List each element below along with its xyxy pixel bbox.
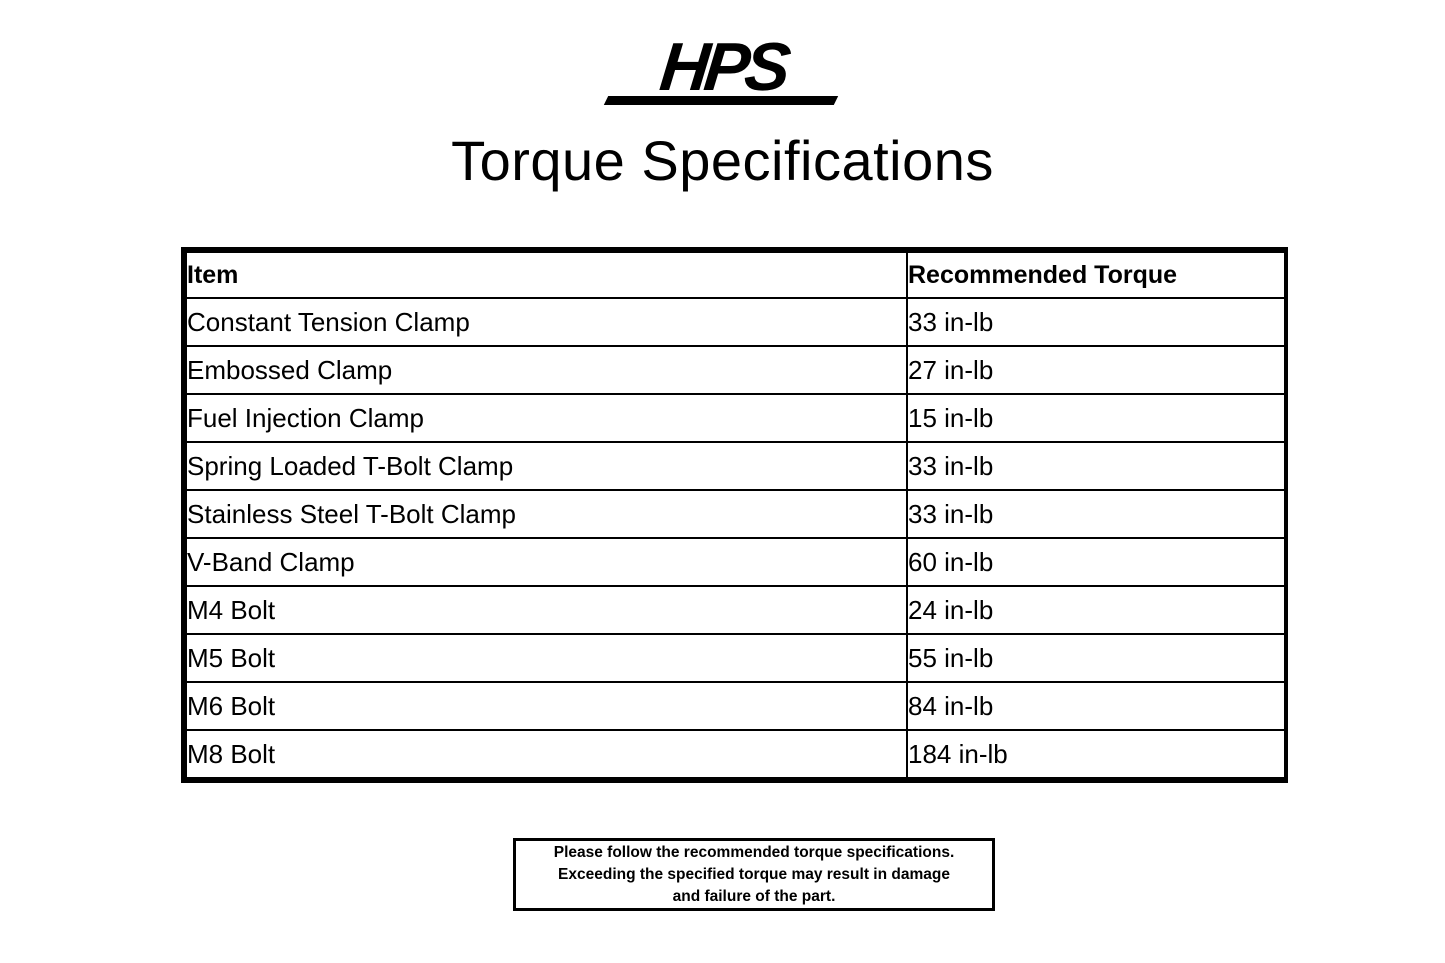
- hps-logo: HPS: [604, 35, 842, 107]
- cell-item: Embossed Clamp: [186, 346, 907, 394]
- warning-line: and failure of the part.: [673, 886, 836, 908]
- hps-logo-underline-bar: [603, 96, 837, 105]
- cell-item: M6 Bolt: [186, 682, 907, 730]
- table-row: M4 Bolt 24 in-lb: [186, 586, 1285, 634]
- brand-header: HPS: [0, 32, 1445, 110]
- cell-item: Constant Tension Clamp: [186, 298, 907, 346]
- cell-item: Stainless Steel T-Bolt Clamp: [186, 490, 907, 538]
- cell-torque: 15 in-lb: [907, 394, 1285, 442]
- cell-torque: 33 in-lb: [907, 490, 1285, 538]
- cell-torque: 184 in-lb: [907, 730, 1285, 778]
- table-row: V-Band Clamp 60 in-lb: [186, 538, 1285, 586]
- cell-torque: 33 in-lb: [907, 442, 1285, 490]
- warning-line: Please follow the recommended torque spe…: [554, 842, 955, 864]
- column-header-torque: Recommended Torque: [907, 252, 1285, 298]
- table-row: M6 Bolt 84 in-lb: [186, 682, 1285, 730]
- warning-notice: Please follow the recommended torque spe…: [513, 838, 995, 911]
- cell-torque: 55 in-lb: [907, 634, 1285, 682]
- cell-torque: 60 in-lb: [907, 538, 1285, 586]
- cell-item: Spring Loaded T-Bolt Clamp: [186, 442, 907, 490]
- cell-torque: 24 in-lb: [907, 586, 1285, 634]
- cell-item: M8 Bolt: [186, 730, 907, 778]
- table-row: M5 Bolt 55 in-lb: [186, 634, 1285, 682]
- table-row: Constant Tension Clamp 33 in-lb: [186, 298, 1285, 346]
- cell-item: M5 Bolt: [186, 634, 907, 682]
- cell-item: M4 Bolt: [186, 586, 907, 634]
- table-row: Stainless Steel T-Bolt Clamp 33 in-lb: [186, 490, 1285, 538]
- table-row: M8 Bolt 184 in-lb: [186, 730, 1285, 778]
- cell-item: V-Band Clamp: [186, 538, 907, 586]
- table-header-row: Item Recommended Torque: [186, 252, 1285, 298]
- warning-line: Exceeding the specified torque may resul…: [558, 864, 950, 886]
- table-header: Item Recommended Torque: [186, 252, 1285, 298]
- hps-logo-text: HPS: [600, 31, 846, 103]
- torque-specifications-table: Item Recommended Torque Constant Tension…: [181, 247, 1288, 783]
- cell-item: Fuel Injection Clamp: [186, 394, 907, 442]
- table-row: Spring Loaded T-Bolt Clamp 33 in-lb: [186, 442, 1285, 490]
- page-title: Torque Specifications: [0, 128, 1445, 193]
- cell-torque: 27 in-lb: [907, 346, 1285, 394]
- cell-torque: 33 in-lb: [907, 298, 1285, 346]
- table-row: Fuel Injection Clamp 15 in-lb: [186, 394, 1285, 442]
- cell-torque: 84 in-lb: [907, 682, 1285, 730]
- table-row: Embossed Clamp 27 in-lb: [186, 346, 1285, 394]
- column-header-item: Item: [186, 252, 907, 298]
- table-body: Constant Tension Clamp 33 in-lb Embossed…: [186, 298, 1285, 778]
